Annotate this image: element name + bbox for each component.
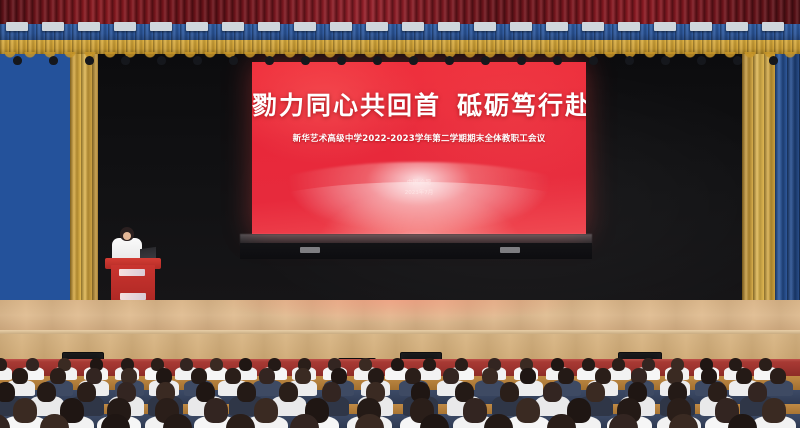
audience-member-head bbox=[210, 358, 223, 371]
stage-lamp-fixture bbox=[186, 22, 208, 31]
audience-member-head bbox=[50, 368, 66, 384]
audience-member-head bbox=[26, 358, 39, 371]
podium-logo-upper bbox=[119, 269, 145, 276]
audience-member-head bbox=[77, 382, 96, 402]
led-title-part1: 勠力同心共回首 bbox=[252, 91, 441, 120]
stage-lamp-fixture bbox=[222, 22, 244, 31]
audience-member-head bbox=[279, 382, 298, 402]
audience-member-head bbox=[586, 382, 605, 402]
stage-lamp-fixture bbox=[42, 22, 64, 31]
stage-lamp-fixture bbox=[402, 22, 424, 31]
audience-member-head bbox=[237, 382, 256, 402]
stage-lamp-head bbox=[337, 56, 346, 65]
stage-lamp-head bbox=[589, 56, 598, 65]
stage-lamp-fixture bbox=[762, 22, 784, 31]
stage-lamp-fixture bbox=[654, 22, 676, 31]
strip-marker-left bbox=[300, 247, 320, 253]
stage-lamp-head bbox=[49, 56, 58, 65]
stage-lights bbox=[0, 22, 800, 44]
stage-lamp-head bbox=[445, 56, 454, 65]
led-screen-subtitle: 新华艺术高级中学2022-2023学年第二学期期末全体教职工会议 bbox=[252, 132, 586, 144]
stage-lamp-head bbox=[517, 56, 526, 65]
audience-member-head bbox=[259, 368, 275, 384]
led-location: 中国·合肥 bbox=[252, 178, 586, 188]
strip-marker-right bbox=[500, 247, 520, 253]
audience-member-head bbox=[254, 398, 278, 423]
stage-lamp-fixture bbox=[114, 22, 136, 31]
stage-lamp-head bbox=[553, 56, 562, 65]
curtain-blue-left bbox=[0, 52, 72, 302]
audience-member-head bbox=[322, 382, 341, 402]
stage-lamp-head bbox=[85, 56, 94, 65]
audience-member-head bbox=[295, 368, 311, 384]
stage-lamp-fixture bbox=[474, 22, 496, 31]
audience-member-head bbox=[443, 368, 459, 384]
stage-lamp-fixture bbox=[726, 22, 748, 31]
stage-lamp-head bbox=[193, 56, 202, 65]
stage-lamp-head bbox=[625, 56, 634, 65]
stage-lamp-head bbox=[157, 56, 166, 65]
auditorium-photo: 勠力同心共回首砥砺笃行赴未来 新华艺术高级中学2022-2023学年第二学期期末… bbox=[0, 0, 800, 428]
audience-member-head bbox=[748, 382, 767, 402]
audience-member-head bbox=[204, 398, 228, 423]
stage-lamp-head bbox=[301, 56, 310, 65]
stage-lamp-fixture bbox=[330, 22, 352, 31]
audience-member-head bbox=[12, 368, 28, 384]
podium-logo-lower bbox=[120, 293, 146, 300]
audience-member-head bbox=[543, 382, 562, 402]
curtain-gold-left bbox=[70, 52, 98, 304]
audience-member-head bbox=[582, 358, 595, 371]
screen-lower-frame bbox=[240, 243, 592, 259]
stage-lamp-fixture bbox=[294, 22, 316, 31]
audience-member-head bbox=[612, 358, 625, 371]
audience-member-head bbox=[391, 358, 404, 371]
stage-lamp-fixture bbox=[618, 22, 640, 31]
audience-member-head bbox=[762, 398, 786, 423]
stage-lamp-head bbox=[121, 56, 130, 65]
audience-member-head bbox=[516, 398, 540, 423]
audience-member-head bbox=[558, 368, 574, 384]
stage-lamp-head bbox=[733, 56, 742, 65]
curtain-blue-right bbox=[775, 52, 800, 304]
stage-lamp-fixture bbox=[150, 22, 172, 31]
audience-member-head bbox=[37, 382, 56, 402]
stage-lamp-fixture bbox=[78, 22, 100, 31]
stage-lamp-fixture bbox=[366, 22, 388, 31]
stage-lamp-fixture bbox=[546, 22, 568, 31]
audience-member-head bbox=[180, 358, 193, 371]
audience-member-head bbox=[239, 358, 252, 371]
stage-lamp-head bbox=[481, 56, 490, 65]
stage-lamp-head bbox=[769, 56, 778, 65]
led-screen-title: 勠力同心共回首砥砺笃行赴未来 bbox=[252, 92, 586, 120]
presenter-face bbox=[123, 232, 131, 240]
audience-member-head bbox=[500, 382, 519, 402]
stage-lamp-head bbox=[229, 56, 238, 65]
stage-lamp-head bbox=[409, 56, 418, 65]
audience-member-head bbox=[520, 368, 536, 384]
audience-member-head bbox=[770, 368, 786, 384]
stage-lamp-fixture bbox=[582, 22, 604, 31]
audience-member-head bbox=[0, 358, 7, 371]
stage-lamp-fixture bbox=[438, 22, 460, 31]
curtain-gold-right bbox=[742, 52, 778, 304]
stage-lamp-fixture bbox=[510, 22, 532, 31]
audience-member-head bbox=[463, 398, 487, 423]
stage-lamp-fixture bbox=[6, 22, 28, 31]
led-title-part2: 砥砺笃行赴未来 bbox=[457, 91, 586, 120]
stage-floor bbox=[0, 300, 800, 334]
stage-lamp-fixture bbox=[258, 22, 280, 31]
led-screen: 勠力同心共回首砥砺笃行赴未来 新华艺术高级中学2022-2023学年第二学期期末… bbox=[252, 62, 586, 234]
audience-member-head bbox=[759, 358, 772, 371]
audience-member-head bbox=[13, 398, 37, 423]
audience-member-head bbox=[736, 368, 752, 384]
stage-lamp-head bbox=[697, 56, 706, 65]
audience-member-head bbox=[455, 358, 468, 371]
stage-lamp-head bbox=[661, 56, 670, 65]
audience-area bbox=[0, 346, 800, 428]
valance-scallop bbox=[0, 52, 800, 60]
led-date: 2023年7月 bbox=[252, 188, 586, 198]
stage-lamp-head bbox=[265, 56, 274, 65]
stage-lamp-head bbox=[13, 56, 22, 65]
audience-member-head bbox=[0, 382, 15, 402]
audience-member-head bbox=[482, 368, 498, 384]
audience-member-head bbox=[225, 368, 241, 384]
stage-lamp-fixture bbox=[690, 22, 712, 31]
stage-lamp-head bbox=[373, 56, 382, 65]
audience-member-head bbox=[423, 358, 436, 371]
